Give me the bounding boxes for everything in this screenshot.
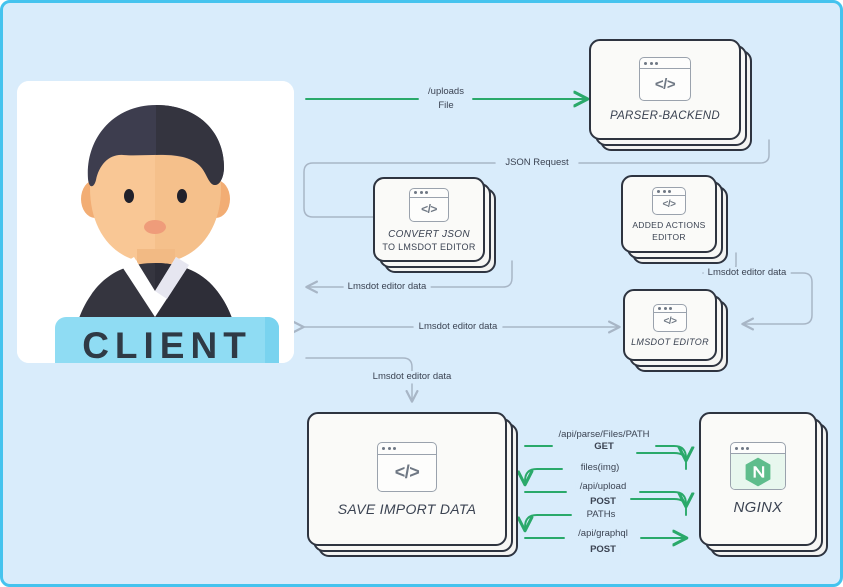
node-save-import-data[interactable]: </> SAVE IMPORT DATA bbox=[307, 412, 507, 546]
node-convert-json[interactable]: </> CONVERT JSON TO LMSDOT EDITOR bbox=[373, 177, 485, 262]
card-face: </> CONVERT JSON TO LMSDOT EDITOR bbox=[373, 177, 485, 262]
node-caption: SAVE IMPORT DATA bbox=[338, 501, 477, 517]
node-parser-backend[interactable]: </> PARSER-BACKEND bbox=[589, 39, 741, 140]
card-face: </> LMSDOT EDITOR bbox=[623, 289, 717, 361]
nginx-hexagon-icon bbox=[743, 456, 773, 488]
card-face: </> SAVE IMPORT DATA bbox=[307, 412, 507, 546]
card-face: </> PARSER-BACKEND bbox=[589, 39, 741, 140]
code-browser-icon: </> bbox=[652, 187, 686, 215]
code-browser-icon: </> bbox=[639, 57, 691, 101]
node-nginx[interactable]: NGINX bbox=[699, 412, 817, 546]
node-caption: LMSDOT EDITOR bbox=[631, 337, 709, 347]
client-illustration-card: CLIENT bbox=[17, 81, 294, 363]
node-lmsdot-editor[interactable]: </> LMSDOT EDITOR bbox=[623, 289, 717, 361]
edge-api-files-img bbox=[525, 453, 686, 484]
nginx-logo-icon bbox=[730, 442, 786, 490]
code-browser-icon: </> bbox=[653, 304, 687, 332]
client-label: CLIENT bbox=[55, 317, 279, 363]
diagram-canvas: CLIENT </> PARSER-BACKEND </> CONVERT JS… bbox=[0, 0, 843, 587]
node-caption: ADDED ACTIONS EDITOR bbox=[632, 220, 705, 242]
node-caption: PARSER-BACKEND bbox=[610, 110, 720, 122]
node-added-actions-editor[interactable]: </> ADDED ACTIONS EDITOR bbox=[621, 175, 717, 253]
code-browser-icon: </> bbox=[409, 188, 449, 222]
code-browser-icon: </> bbox=[377, 442, 437, 492]
client-banner: CLIENT bbox=[55, 317, 279, 363]
node-caption: CONVERT JSON TO LMSDOT EDITOR bbox=[382, 229, 475, 252]
edge-lmsdot-4 bbox=[306, 358, 412, 401]
edge-api-paths bbox=[525, 499, 686, 530]
card-face: </> ADDED ACTIONS EDITOR bbox=[621, 175, 717, 253]
card-face: NGINX bbox=[699, 412, 817, 546]
node-caption: NGINX bbox=[733, 499, 782, 516]
